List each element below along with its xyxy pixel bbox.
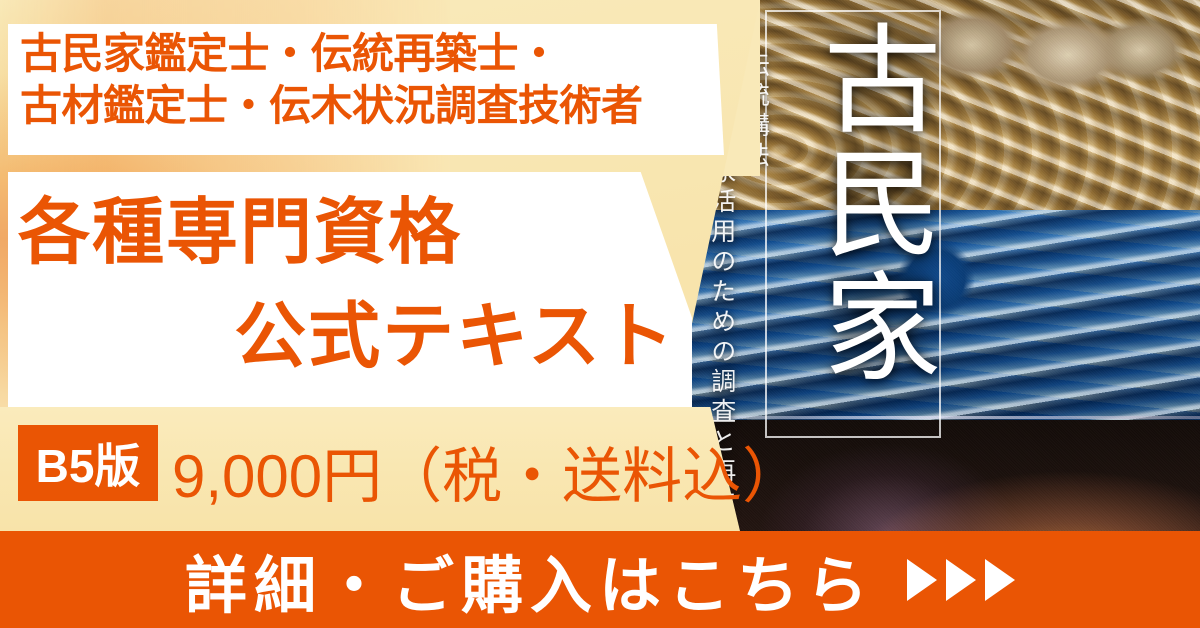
triangle-right-icon [946,559,976,601]
headline-line-2: 公式テキスト [18,286,708,390]
credentials-line-2: 古材鑑定士・伝木状況調査技術者 [20,80,720,132]
credentials-text: 古民家鑑定士・伝統再築士・ 古材鑑定士・伝木状況調査技術者 [20,28,720,132]
promo-banner: 古民家 伝統構法 古民家活用のための調査と再生の 古民家鑑定士・伝統再築士・ 古… [0,0,1200,628]
headline-line-1: 各種専門資格 [18,182,708,286]
cta-button[interactable]: 詳細・ご購入はこちら [0,531,1200,628]
triangle-right-icon [985,559,1015,601]
headline-text: 各種専門資格 公式テキスト [18,182,708,389]
triangle-right-icon [907,559,937,601]
cta-label: 詳細・ご購入はこちら [185,535,875,625]
credentials-line-1: 古民家鑑定士・伝統再築士・ [20,28,720,80]
book-title: 古民家 [770,18,930,390]
price-text: 9,000円（税・送料込） [172,428,802,515]
cta-arrow-group [907,559,1015,601]
format-badge: B5版 [18,425,158,501]
